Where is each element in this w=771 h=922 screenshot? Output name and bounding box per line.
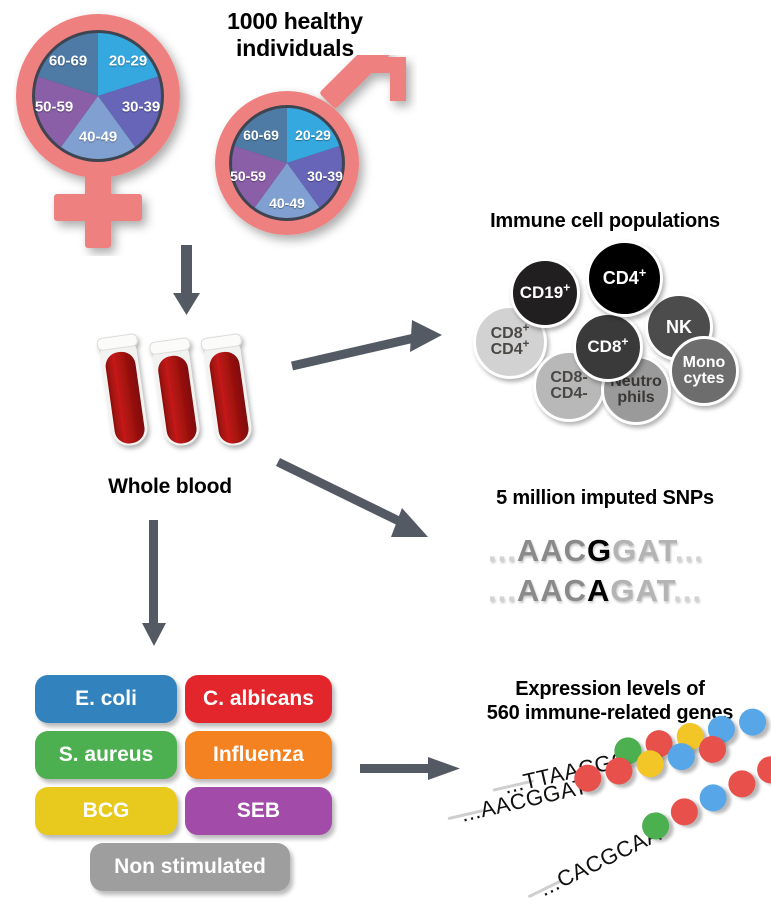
cell-label-neutro: Neutro bbox=[610, 374, 662, 390]
arrow-blood-to-snps bbox=[250, 440, 450, 550]
blood-tubes bbox=[92, 330, 262, 455]
arrow-blood-to-immune-cells bbox=[290, 318, 460, 378]
expression-bead bbox=[695, 780, 731, 816]
snp-variant-2: A bbox=[587, 573, 610, 608]
cell-cd8pos: CD8+ bbox=[573, 312, 643, 382]
expression-bead bbox=[666, 794, 702, 830]
cell-cd8pos-cd4pos: CD8+ CD4+ bbox=[473, 305, 547, 379]
whole-blood-label: Whole blood bbox=[60, 475, 280, 500]
snp-prefix-1: ... bbox=[488, 533, 517, 568]
arrow-cohort-to-blood bbox=[168, 245, 208, 317]
expression-strand-1-text: ...TTAACGG bbox=[501, 746, 632, 800]
cell-label-cd19pos: CD19+ bbox=[520, 284, 571, 301]
cell-label-nk: NK bbox=[666, 318, 692, 336]
snp-before-2: AAC bbox=[517, 573, 587, 608]
snp-before-1: AAC bbox=[517, 533, 587, 568]
snp-after-2: GAT bbox=[610, 573, 673, 608]
snp-sequence-row-2: ...AACAGAT... bbox=[488, 573, 702, 609]
cohort-title-line1: 1000 healthy bbox=[180, 8, 410, 35]
immune-cell-populations-title: Immune cell populations bbox=[455, 210, 755, 234]
stimulation-pill-e-coli[interactable]: E. coli bbox=[35, 675, 177, 723]
cell-label-phils: phils bbox=[610, 390, 662, 406]
stimulation-pill-non-stimulated[interactable]: Non stimulated bbox=[90, 843, 290, 891]
cell-cd8neg-cd4neg: CD8- CD4- bbox=[533, 350, 605, 422]
cell-label-cd4pos: CD4+ bbox=[491, 342, 530, 358]
snp-sequence-row-1: ...AACGGAT... bbox=[488, 533, 704, 569]
cell-label-cd4neg: CD4- bbox=[550, 386, 587, 402]
expression-title-line2: 560 immune-related genes bbox=[450, 702, 770, 726]
cell-label-cd8pos-solo: CD8+ bbox=[587, 338, 628, 355]
snp-suffix-1: ... bbox=[675, 533, 704, 568]
expression-title-line1: Expression levels of bbox=[450, 678, 770, 702]
snp-suffix-2: ... bbox=[673, 573, 702, 608]
cell-cd4pos: CD4+ bbox=[586, 240, 663, 317]
expression-bead bbox=[753, 752, 771, 788]
expression-bead bbox=[665, 740, 697, 772]
snp-prefix-2: ... bbox=[488, 573, 517, 608]
snp-after-1: GAT bbox=[612, 533, 675, 568]
cell-nk: NK bbox=[645, 293, 713, 361]
expression-bead bbox=[612, 735, 644, 767]
stimulation-pill-c-albicans[interactable]: C. albicans bbox=[185, 675, 332, 723]
expression-bead bbox=[724, 766, 760, 802]
expression-bead bbox=[696, 733, 728, 765]
expression-bead bbox=[638, 808, 674, 844]
cell-cd19pos: CD19+ bbox=[510, 258, 580, 328]
expression-strand-2-text: ...AACGGAT bbox=[458, 773, 590, 827]
female-gender-symbol: 20-29 30-39 40-49 50-59 60-69 bbox=[14, 6, 204, 256]
cell-label-cd8neg: CD8- bbox=[550, 370, 587, 386]
arrow-stimulations-to-expression bbox=[360, 752, 470, 786]
cell-label-cytes: cytes bbox=[683, 371, 726, 387]
expression-bead bbox=[603, 755, 635, 787]
expression-bead bbox=[643, 727, 675, 759]
stimulation-pill-influenza[interactable]: Influenza bbox=[185, 731, 332, 779]
cell-monocytes: Mono cytes bbox=[669, 336, 739, 406]
cell-label-mono: Mono bbox=[683, 355, 726, 371]
male-gender-symbol: 20-29 30-39 40-49 50-59 60-69 bbox=[207, 55, 417, 255]
stimulation-pill-seb[interactable]: SEB bbox=[185, 787, 332, 835]
expression-bead bbox=[572, 762, 604, 794]
cell-label-cd8pos: CD8+ bbox=[491, 326, 530, 342]
expression-strand-3-text: ...CACGCAA bbox=[535, 821, 665, 902]
cell-label-cd4pos: CD4+ bbox=[603, 269, 647, 287]
expression-title: Expression levels of 560 immune-related … bbox=[450, 678, 770, 725]
expression-bead bbox=[634, 748, 666, 780]
stimulation-pill-bcg[interactable]: BCG bbox=[35, 787, 177, 835]
arrow-blood-to-stimulations bbox=[120, 520, 180, 650]
snp-variant-1: G bbox=[587, 533, 612, 568]
cell-neutrophils: Neutro phils bbox=[601, 355, 671, 425]
snps-title: 5 million imputed SNPs bbox=[455, 487, 755, 511]
figure-canvas: 20-29 30-39 40-49 50-59 60-69 1000 healt… bbox=[0, 0, 771, 922]
stimulation-pill-s-aureus[interactable]: S. aureus bbox=[35, 731, 177, 779]
